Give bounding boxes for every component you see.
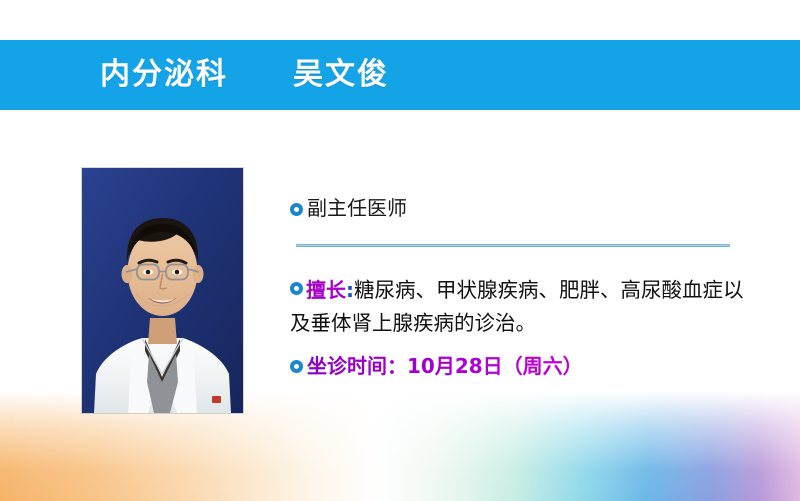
specialty-colon: : — [346, 278, 354, 302]
credential-block: 副主任医师 — [290, 196, 750, 221]
specialty-paragraph: 擅长:糖尿病、甲状腺疾病、肥胖、高尿酸血症以及垂体肾上腺疾病的诊治。 — [290, 274, 760, 340]
credential-row: 副主任医师 — [290, 196, 750, 221]
doctor-title-text: 副主任医师 — [307, 196, 407, 221]
specialty-body: 糖尿病、甲状腺疾病、肥胖、高尿酸血症以及垂体肾上腺疾病的诊治。 — [290, 278, 744, 335]
clinic-time-text: 坐诊时间：10月28日（周六） — [307, 353, 583, 380]
header-bar: 内分泌科 吴文俊 — [0, 40, 800, 110]
section-divider — [296, 244, 730, 247]
specialty-block: 擅长:糖尿病、甲状腺疾病、肥胖、高尿酸血症以及垂体肾上腺疾病的诊治。 — [290, 274, 760, 340]
footer-gradient-accent — [0, 461, 800, 501]
portrait-illustration — [82, 168, 243, 413]
doctor-portrait-photo — [82, 168, 243, 413]
doctor-name-title: 吴文俊 — [293, 60, 389, 90]
clinic-time-block: 坐诊时间：10月28日（周六） — [290, 353, 760, 380]
slide-canvas: 内分泌科 吴文俊 — [0, 0, 800, 501]
ring-bullet-icon-specialty — [290, 282, 303, 295]
department-title: 内分泌科 — [100, 60, 228, 90]
ring-bullet-icon-time — [290, 360, 303, 373]
ring-bullet-icon — [290, 203, 303, 216]
specialty-label: 擅长 — [306, 278, 346, 302]
